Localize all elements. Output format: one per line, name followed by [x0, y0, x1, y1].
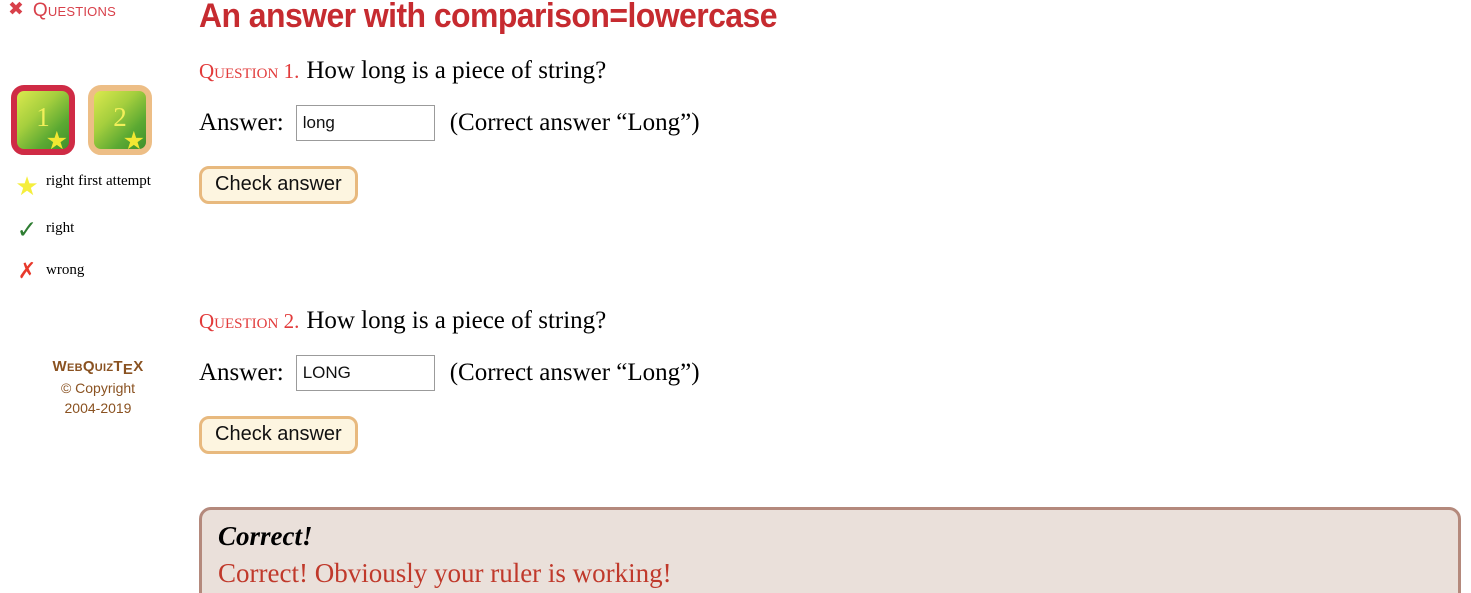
main-content: An answer with comparison=lowercase Ques… — [199, 0, 1471, 593]
star-icon: ★ — [123, 128, 145, 153]
sidebar-header-label: Questions — [33, 1, 116, 20]
close-icon[interactable]: ✖ — [8, 0, 24, 21]
question-block-2: Question 2. How long is a piece of strin… — [199, 307, 1469, 454]
question-button-2[interactable]: 2 ★ — [88, 85, 152, 155]
webquiz-logo-x: X — [133, 358, 143, 375]
question-block-1: Question 1. How long is a piece of strin… — [199, 57, 1469, 204]
check-icon: ✓ — [8, 217, 46, 242]
answer-label-2: Answer: — [199, 359, 284, 387]
question-1-number: 1. — [284, 59, 300, 83]
webquiz-logo: WebQuizTEX — [0, 356, 196, 378]
question-1-label: Question 1. — [199, 59, 299, 84]
question-2-number: 2. — [284, 309, 300, 333]
legend-item-wrong: ✗ wrong — [8, 259, 188, 283]
star-icon: ★ — [8, 172, 46, 200]
answer-input-1[interactable] — [296, 105, 435, 141]
question-1-text: How long is a piece of string? — [306, 57, 606, 85]
feedback-body: Correct! Obviously your ruler is working… — [218, 556, 1442, 591]
star-icon: ★ — [46, 128, 68, 153]
page-title: An answer with comparison=lowercase — [199, 0, 777, 36]
legend-item-right-first-attempt: ★ right first attempt — [8, 172, 188, 200]
question-2-heading: Question 2. How long is a piece of strin… — [199, 307, 1469, 335]
webquiz-logo-e: E — [123, 359, 133, 381]
webquiz-logo-t: T — [113, 358, 122, 375]
question-1-heading: Question 1. How long is a piece of strin… — [199, 57, 1469, 85]
question-2-label-text: Question — [199, 309, 278, 333]
quiz-page: ✖ Questions 1 ★ 2 ★ ★ right first attemp… — [0, 0, 1471, 593]
legend-label: right first attempt — [46, 172, 151, 190]
question-1-label-text: Question — [199, 59, 278, 83]
legend-label: right — [46, 217, 74, 237]
question-button-1[interactable]: 1 ★ — [11, 85, 75, 155]
answer-row-2: Answer: (Correct answer “Long”) — [199, 355, 1469, 391]
webquiz-logo-name: WebQuiz — [52, 358, 113, 375]
question-2-label: Question 2. — [199, 309, 299, 334]
copyright-years: 2004-2019 — [0, 398, 196, 418]
feedback-box: Correct! Correct! Obviously your ruler i… — [199, 507, 1461, 593]
answer-label-1: Answer: — [199, 109, 284, 137]
check-answer-button-2[interactable]: Check answer — [199, 416, 358, 454]
answer-row-1: Answer: (Correct answer “Long”) — [199, 105, 1469, 141]
copyright-block: WebQuizTEX © Copyright 2004-2019 — [0, 356, 196, 418]
legend-item-right: ✓ right — [8, 217, 188, 242]
legend: ★ right first attempt ✓ right ✗ wrong — [8, 172, 188, 300]
sidebar: ✖ Questions 1 ★ 2 ★ ★ right first attemp… — [0, 0, 196, 593]
sidebar-header: ✖ Questions — [8, 0, 116, 21]
correct-answer-hint-1: (Correct answer “Long”) — [450, 109, 700, 137]
feedback-title: Correct! — [218, 520, 1442, 554]
question-nav: 1 ★ 2 ★ — [11, 85, 152, 155]
check-answer-button-1[interactable]: Check answer — [199, 166, 358, 204]
answer-input-2[interactable] — [296, 355, 435, 391]
cross-icon: ✗ — [8, 259, 46, 283]
legend-label: wrong — [46, 259, 84, 279]
question-2-text: How long is a piece of string? — [306, 307, 606, 335]
copyright-line: © Copyright — [0, 378, 196, 398]
correct-answer-hint-2: (Correct answer “Long”) — [450, 359, 700, 387]
